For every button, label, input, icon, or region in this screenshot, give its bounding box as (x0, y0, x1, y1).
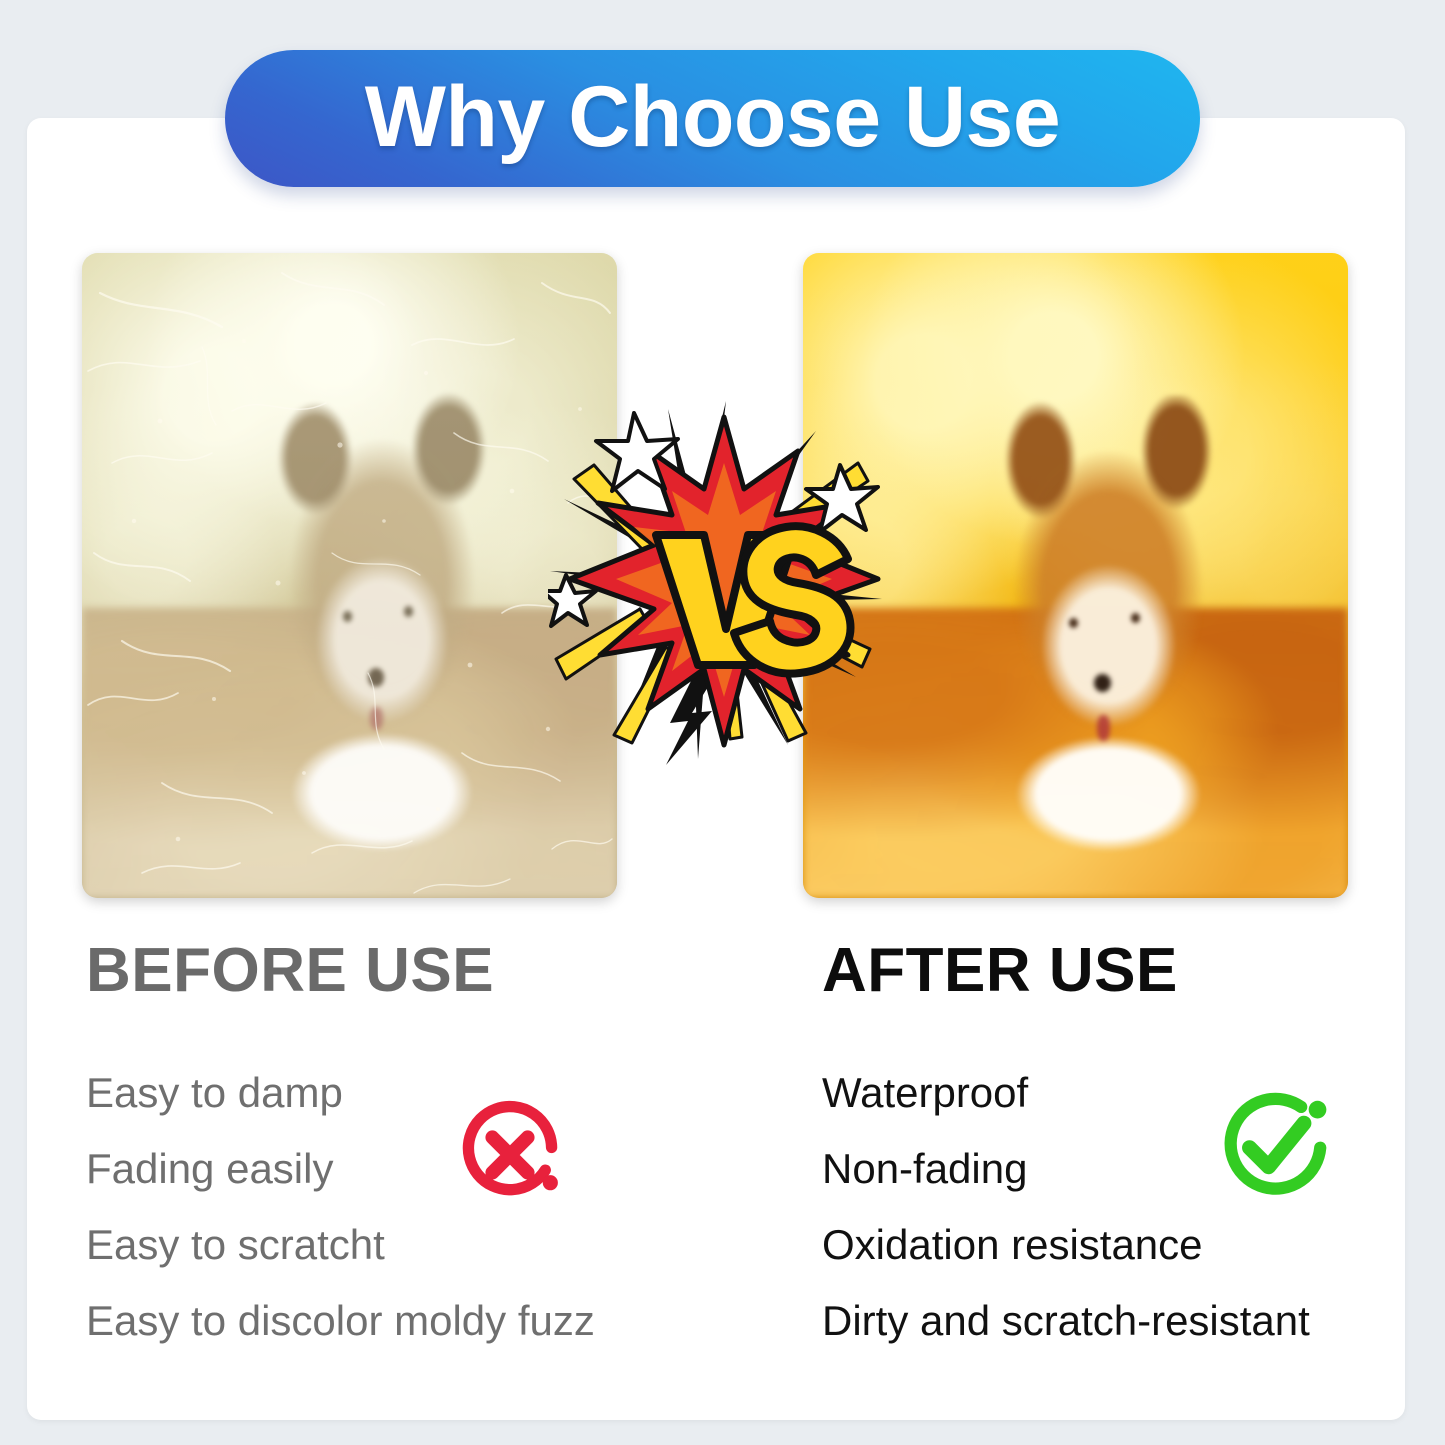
page-title: Why Choose Use (365, 74, 1060, 160)
list-item: Easy to damp (86, 1055, 726, 1131)
title-banner-pill: Why Choose Use (225, 50, 1200, 187)
before-photo-scratch-overlay (82, 253, 617, 898)
before-use-heading: BEFORE USE (86, 940, 494, 1002)
after-photo-dog (967, 395, 1250, 859)
list-item: Fading easily (86, 1131, 726, 1207)
infographic-page: Why Choose Use (0, 0, 1445, 1445)
check-circle-icon (1206, 1077, 1342, 1213)
list-item: Waterproof (822, 1055, 1445, 1131)
vs-burst-icon: VS (548, 393, 900, 765)
before-photo (82, 253, 617, 898)
title-banner: Why Choose Use (225, 50, 1200, 187)
list-item: Non-fading (822, 1131, 1445, 1207)
list-item: Oxidation resistance (822, 1207, 1445, 1283)
cross-circle-icon (447, 1092, 573, 1218)
list-item: Easy to scratcht (86, 1207, 726, 1283)
list-item: Easy to discolor moldy fuzz (86, 1283, 726, 1359)
after-feature-list: Waterproof Non-fading Oxidation resistan… (822, 1055, 1445, 1359)
before-feature-list: Easy to damp Fading easily Easy to scrat… (86, 1055, 726, 1359)
list-item: Dirty and scratch-resistant (822, 1283, 1445, 1359)
after-use-heading: AFTER USE (822, 940, 1178, 1002)
